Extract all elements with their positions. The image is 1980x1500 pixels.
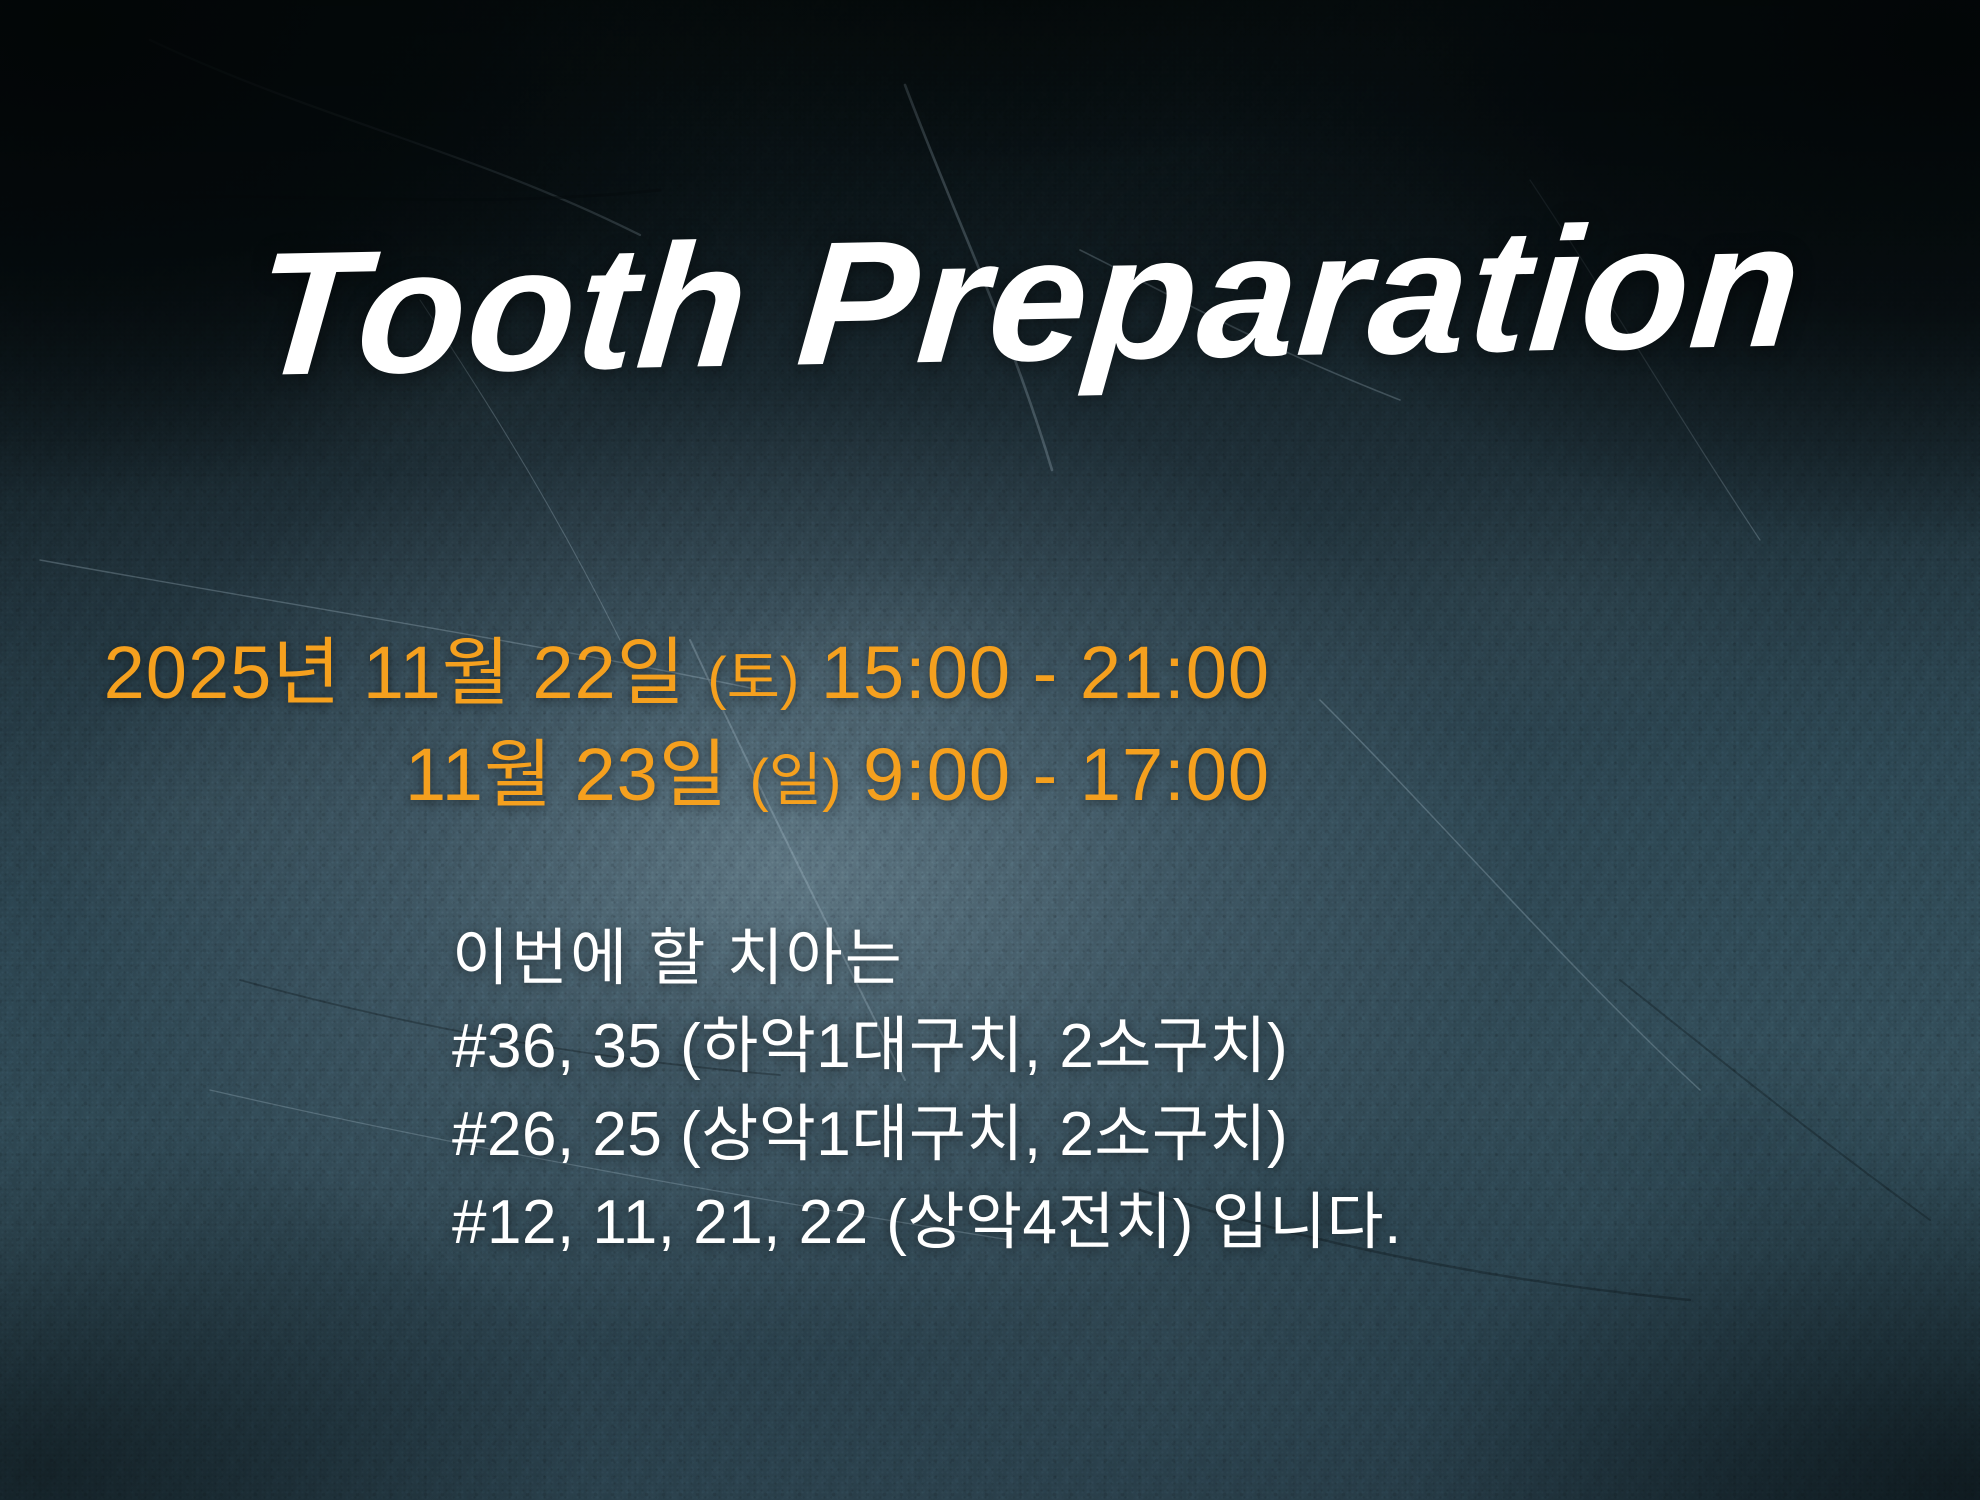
schedule-line-1-date: 2025년 11월 22일 <box>104 631 686 714</box>
page-title: Tooth Preparation <box>246 188 1687 430</box>
tooth-list-intro: 이번에 할 치아는 <box>452 915 1402 1003</box>
schedule-line-2-date: 11월 23일 <box>405 733 728 816</box>
schedule-line-1: 2025년 11월 22일 (토) 15:00 - 21:00 <box>0 625 1270 727</box>
poster-slide: Tooth Preparation 2025년 11월 22일 (토) 15:0… <box>0 0 1980 1500</box>
tooth-list-item-1: #36, 35 (하악1대구치, 2소구치) <box>452 1003 1402 1091</box>
schedule-line-1-time: 15:00 - 21:00 <box>821 631 1270 714</box>
schedule-line-1-dayofweek: (토) <box>707 646 799 711</box>
schedule-line-2-time: 9:00 - 17:00 <box>863 733 1270 816</box>
tooth-list-block: 이번에 할 치아는 #36, 35 (하악1대구치, 2소구치) #26, 25… <box>452 915 1402 1267</box>
schedule-line-2: 11월 23일 (일) 9:00 - 17:00 <box>0 727 1270 829</box>
tooth-list-item-2: #26, 25 (상악1대구치, 2소구치) <box>452 1091 1402 1179</box>
schedule-line-2-dayofweek: (일) <box>749 748 841 813</box>
tooth-list-item-3: #12, 11, 21, 22 (상악4전치) 입니다. <box>452 1179 1402 1267</box>
schedule-block: 2025년 11월 22일 (토) 15:00 - 21:00 11월 23일 … <box>0 625 1270 829</box>
